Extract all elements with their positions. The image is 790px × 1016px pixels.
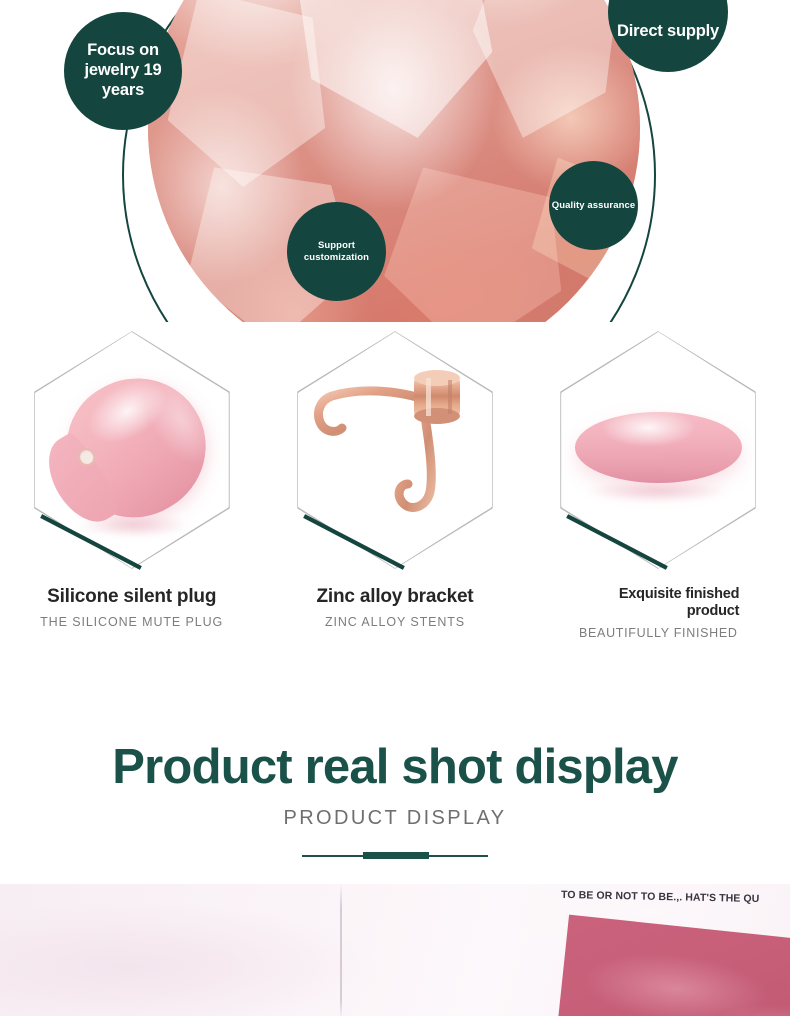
feature-subtitle: BEAUTIFULLY FINISHED: [579, 626, 738, 640]
feature-title: Silicone silent plug: [47, 586, 216, 608]
badge-quality-label: Quality assurance: [552, 200, 636, 211]
feature-zinc-alloy-bracket: Zinc alloy bracket ZINC ALLOY STENTS: [263, 330, 526, 655]
feature-silicone-plug: Silicone silent plug THE SILICONE MUTE P…: [0, 330, 263, 655]
silicone-plug-body: [40, 353, 228, 542]
features-section: Silicone silent plug THE SILICONE MUTE P…: [0, 330, 790, 655]
hero-section: Focus on jewelry 19 years Direct supply …: [0, 0, 790, 322]
page-subtitle: PRODUCT DISPLAY: [0, 807, 790, 830]
product-shadow: [585, 481, 729, 502]
feature-image-frame: [559, 330, 757, 580]
oval-bead-body: [575, 412, 742, 483]
feature-image-frame: [33, 330, 231, 580]
feature-title: Exquisite finished product: [577, 586, 739, 619]
page-title: Product real shot display: [0, 742, 790, 793]
feature-exquisite-finished-product: Exquisite finished product BEAUTIFULLY F…: [527, 330, 790, 655]
feature-image-frame: [296, 330, 494, 580]
divider-center-bar: [363, 852, 429, 859]
badge-support-label: Support customization: [287, 240, 386, 263]
feature-subtitle: THE SILICONE MUTE PLUG: [40, 615, 223, 629]
badge-support-customization: Support customization: [287, 202, 386, 301]
section-heading: Product real shot display PRODUCT DISPLA…: [0, 742, 790, 860]
badge-quality-assurance: Quality assurance: [549, 161, 638, 250]
title-divider: [302, 851, 488, 860]
badge-direct-label: Direct supply: [608, 22, 728, 42]
badge-focus-on-jewelry: Focus on jewelry 19 years: [64, 12, 182, 130]
feature-title: Zinc alloy bracket: [317, 586, 474, 608]
paper-crease: [340, 884, 342, 1016]
feature-subtitle: ZINC ALLOY STENTS: [325, 615, 465, 629]
badge-focus-label: Focus on jewelry 19 years: [74, 41, 172, 100]
product-detail-page: Focus on jewelry 19 years Direct supply …: [0, 0, 790, 1016]
hero-rose-quartz-photo: [148, 0, 640, 322]
bottom-product-photo: TO BE OR NOT TO BE.,. HAT'S THE QU: [0, 884, 790, 1016]
